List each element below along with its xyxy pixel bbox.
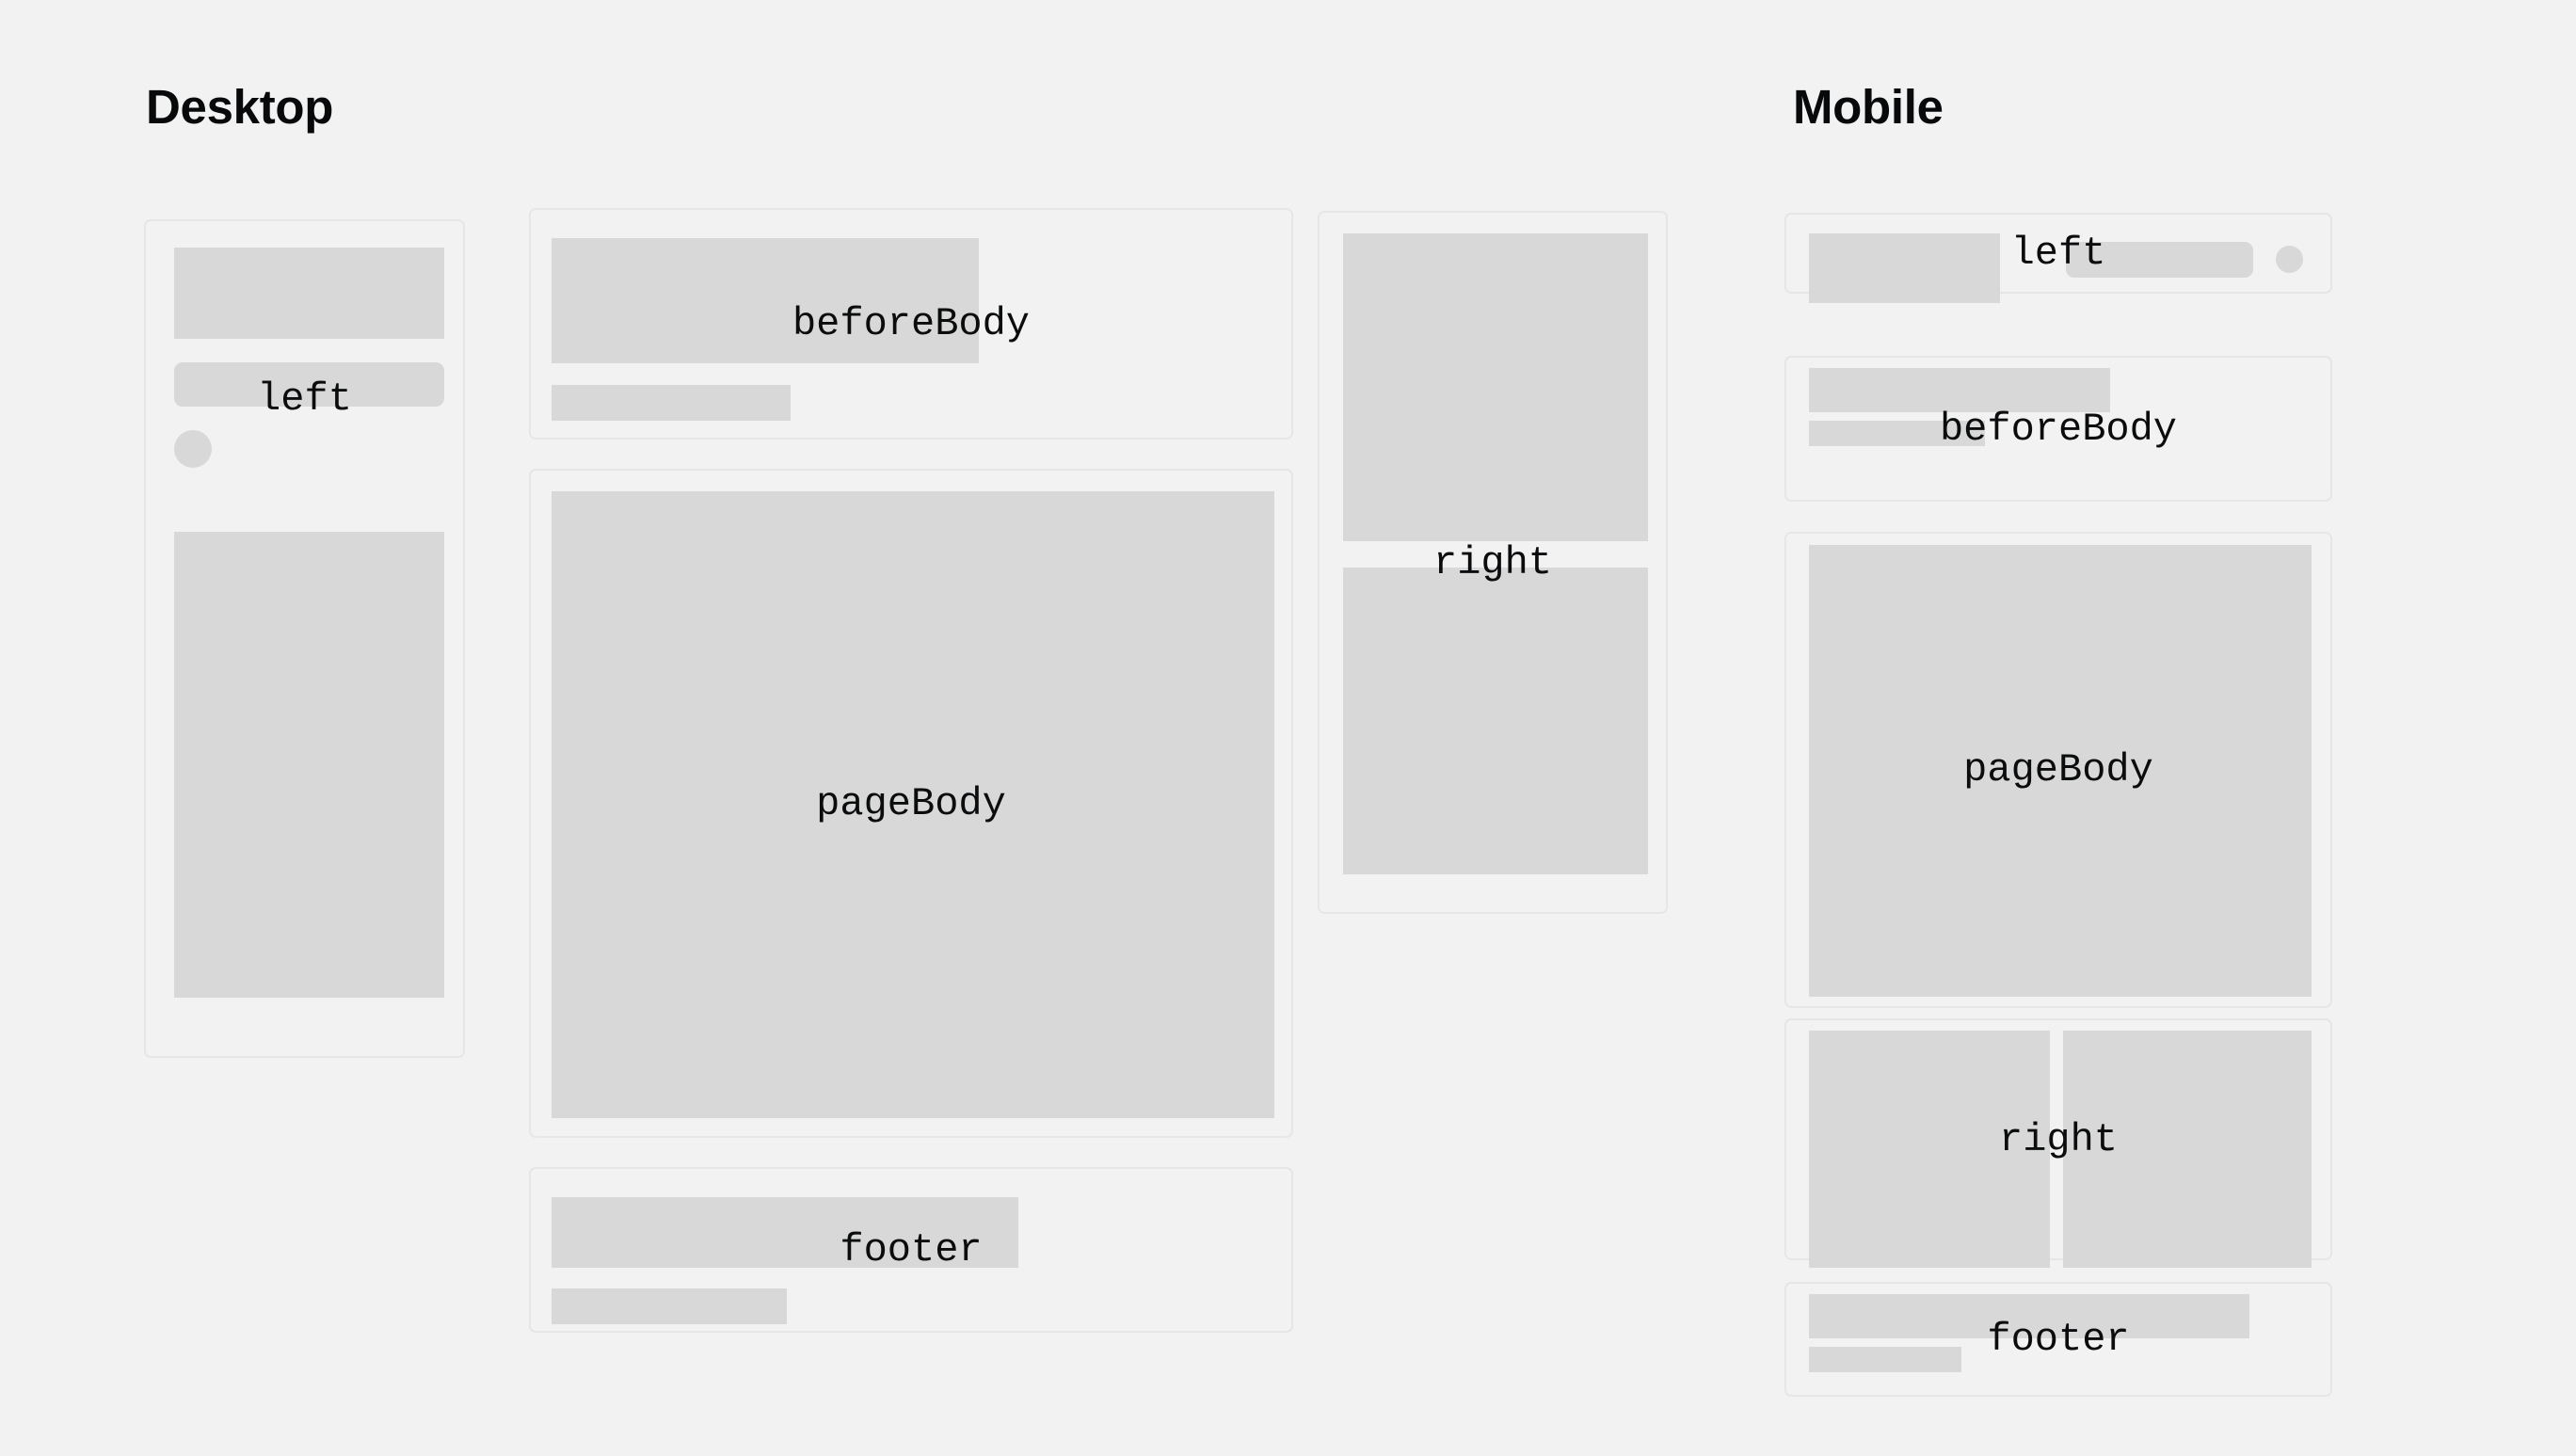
skeleton-block-circle	[174, 430, 212, 468]
desktop-footer-slot-panel[interactable]	[529, 1167, 1293, 1333]
skeleton-block-tall-rect	[174, 532, 444, 998]
skeleton-block-rect	[552, 238, 979, 363]
skeleton-block-large-rect	[1809, 545, 2312, 997]
mobile-right-slot-panel[interactable]	[1784, 1018, 2332, 1260]
skeleton-block-bar	[552, 1288, 787, 1324]
mobile-section-title: Mobile	[1793, 83, 1944, 131]
layout-comparison-canvas: Desktop left beforeBody pageBody footer …	[0, 0, 2576, 1456]
skeleton-block-pill	[174, 362, 444, 407]
skeleton-block-rect	[552, 1197, 1018, 1268]
mobile-footer-slot-panel[interactable]	[1784, 1282, 2332, 1397]
skeleton-block-pill	[2066, 242, 2253, 278]
skeleton-block-rect	[1809, 233, 2000, 303]
desktop-section-title: Desktop	[146, 83, 333, 131]
mobile-pagebody-slot-panel[interactable]	[1784, 532, 2332, 1008]
skeleton-block-rect	[174, 248, 444, 339]
skeleton-block-rect	[1343, 233, 1648, 541]
skeleton-block-bar	[1809, 1347, 1961, 1372]
skeleton-block-circle	[2276, 246, 2303, 273]
skeleton-block-bar	[1809, 421, 1985, 446]
skeleton-block-rect	[1809, 368, 2110, 412]
mobile-beforebody-slot-panel[interactable]	[1784, 356, 2332, 502]
skeleton-block-rect	[1809, 1031, 2050, 1268]
skeleton-block-rect	[2063, 1031, 2312, 1268]
desktop-right-slot-panel[interactable]	[1318, 211, 1668, 914]
skeleton-block-rect	[1809, 1294, 2249, 1338]
skeleton-block-rect	[1343, 568, 1648, 874]
desktop-pagebody-slot-panel[interactable]	[529, 469, 1293, 1138]
skeleton-block-bar	[552, 385, 791, 421]
desktop-left-slot-panel[interactable]	[144, 219, 465, 1058]
skeleton-block-large-rect	[552, 491, 1274, 1118]
desktop-beforebody-slot-panel[interactable]	[529, 208, 1293, 440]
mobile-left-slot-panel[interactable]	[1784, 213, 2332, 294]
